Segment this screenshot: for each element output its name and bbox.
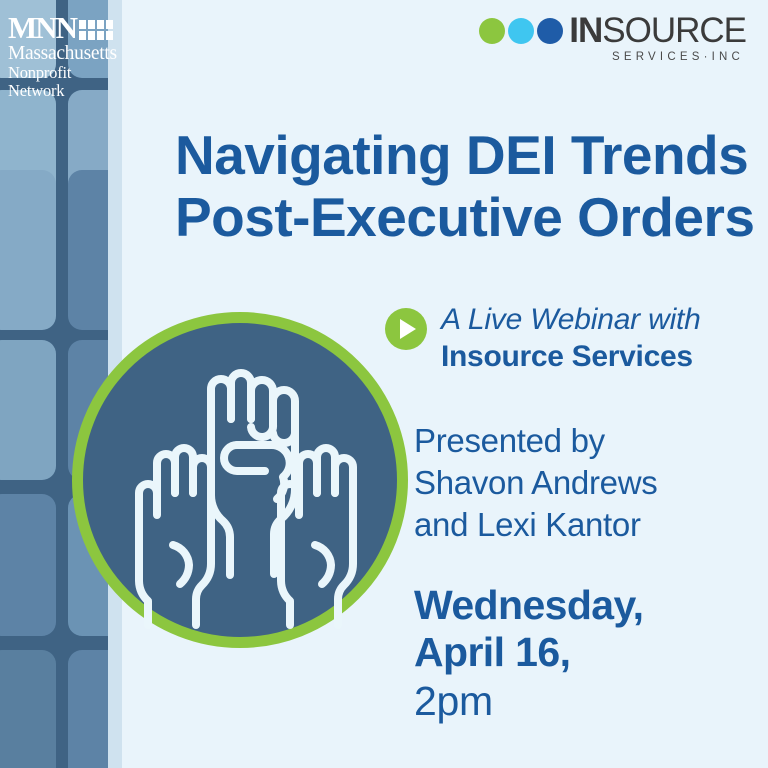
- webinar-callout: A Live Webinar with Insource Services: [385, 302, 755, 376]
- mnn-grid-icon: [79, 20, 113, 40]
- presenters-block: Presented by Shavon Andrews and Lexi Kan…: [414, 420, 764, 546]
- insource-dots-icon: [479, 18, 563, 44]
- insource-logo-mark: INSOURCE: [479, 14, 746, 48]
- presenters-line-2: Shavon Andrews: [414, 462, 764, 504]
- presenters-line-3: and Lexi Kantor: [414, 504, 764, 546]
- insource-subtitle: SERVICES·INC: [479, 51, 744, 63]
- mnn-name-line1: Massachusetts: [8, 44, 126, 64]
- event-date-time: 2pm: [414, 676, 754, 726]
- mnn-logo-mark: MNN: [8, 12, 126, 42]
- strip-tile: [0, 494, 56, 636]
- mnn-letters: MNN: [8, 14, 76, 42]
- webinar-text: A Live Webinar with Insource Services: [441, 302, 755, 376]
- mnn-logo: MNN Massachusetts Nonprofit Network: [8, 12, 126, 100]
- event-date-day: Wednesday,: [414, 582, 754, 629]
- event-date-block: Wednesday, April 16, 2pm: [414, 582, 754, 726]
- webinar-bold-line: Insource Services: [441, 338, 755, 376]
- presenters-line-1: Presented by: [414, 420, 764, 462]
- webinar-italic-line: A Live Webinar with: [441, 302, 755, 338]
- strip-tile: [0, 650, 56, 768]
- insource-logo: INSOURCE SERVICES·INC: [479, 14, 746, 63]
- event-date-date: April 16,: [414, 629, 754, 676]
- webinar-promo-poster: MNN Massachusetts Nonprofit Network INSO…: [0, 0, 768, 768]
- insource-wordmark: INSOURCE: [569, 14, 746, 48]
- insource-word-light: SOURCE: [602, 11, 746, 50]
- headline-line-1: Navigating DEI Trends: [175, 124, 755, 186]
- mnn-name-line2: Nonprofit Network: [8, 64, 126, 100]
- insource-word-bold: IN: [569, 11, 602, 50]
- raised-hands-illustration: [72, 312, 408, 648]
- headline-line-2: Post-Executive Orders: [175, 186, 755, 248]
- strip-tile: [0, 170, 56, 330]
- raised-hands-icon: [83, 323, 397, 637]
- page-title: Navigating DEI Trends Post-Executive Ord…: [175, 124, 755, 248]
- strip-tile: [0, 340, 56, 480]
